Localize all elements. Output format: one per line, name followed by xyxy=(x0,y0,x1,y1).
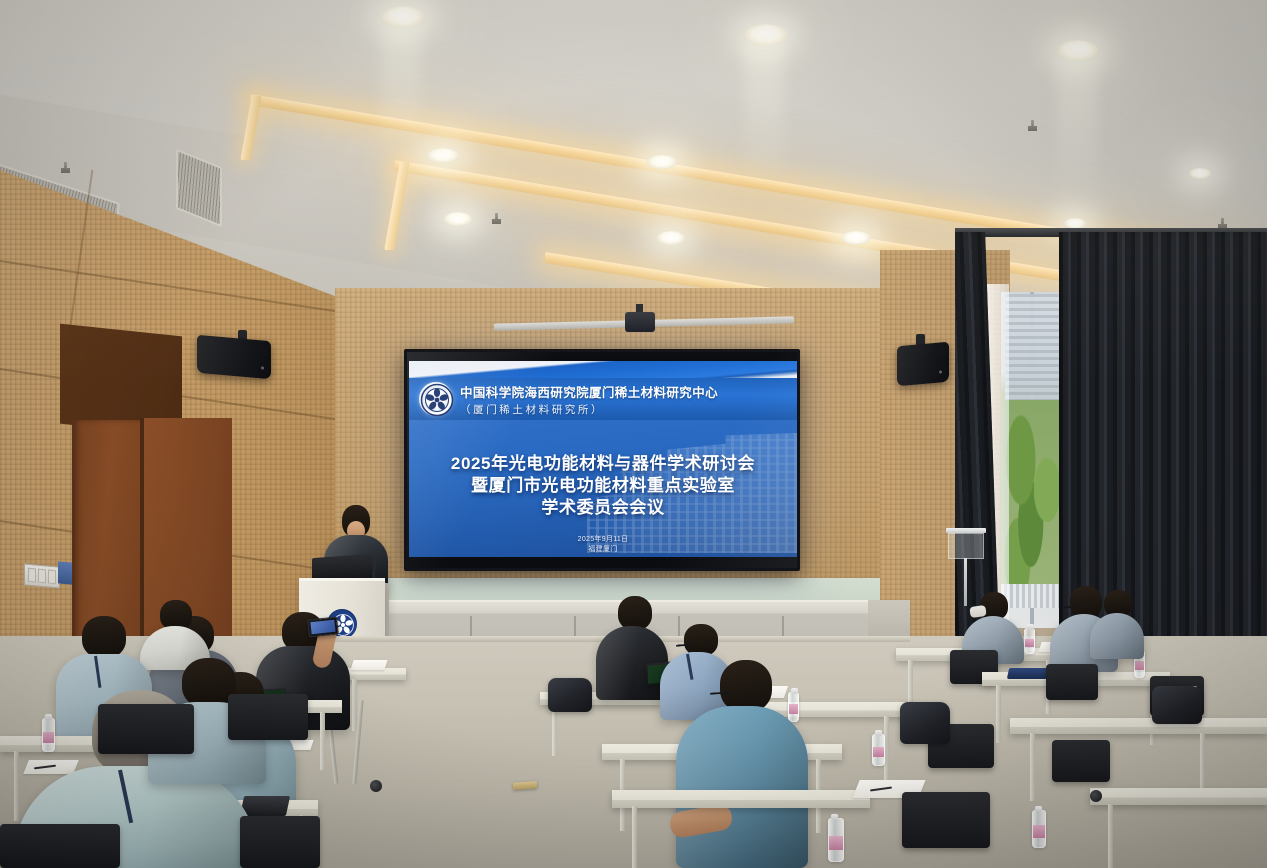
sprinkler-head-5 xyxy=(1028,120,1037,131)
water-bottle xyxy=(828,818,844,862)
desk-leg xyxy=(1108,804,1113,868)
slide-location: 福建厦门 xyxy=(409,545,797,555)
water-bottle xyxy=(1032,810,1046,848)
attendee-head xyxy=(720,660,772,712)
bottle-label xyxy=(1135,661,1144,670)
slide-date: 2025年9月11日 xyxy=(409,535,797,545)
presentation-screen[interactable]: 中国科学院海西研究院厦门稀土材料研究中心 （厦门稀土材料研究所） 2025年光电… xyxy=(404,349,800,571)
backpack-bag xyxy=(548,678,592,712)
slide-title: 2025年光电功能材料与器件学术研讨会 暨厦门市光电功能材料重点实验室 学术委员… xyxy=(409,453,797,519)
downlight-9 xyxy=(1189,168,1211,179)
downlight-1 xyxy=(381,6,425,28)
conference-room-photo: 中国科学院海西研究院厦门稀土材料研究中心 （厦门稀土材料研究所） 2025年光电… xyxy=(0,0,1267,868)
chair[interactable] xyxy=(1052,740,1110,782)
cas-academy-emblem xyxy=(419,382,453,416)
table-row xyxy=(612,790,870,808)
bottle-cap xyxy=(875,730,882,736)
chair-caster xyxy=(370,780,382,792)
exterior-building xyxy=(1005,294,1063,402)
downlight-2 xyxy=(744,24,788,46)
smartphone[interactable] xyxy=(307,616,339,637)
water-bottle xyxy=(872,734,885,766)
desk-leg xyxy=(320,712,325,770)
desk-leg xyxy=(632,806,637,868)
attendee-shading xyxy=(1090,613,1144,659)
phone-screen xyxy=(310,620,335,634)
light-switch-2[interactable] xyxy=(38,569,46,584)
light-switch-1[interactable] xyxy=(28,568,36,583)
slide-organization-subname: （厦门稀土材料研究所） xyxy=(460,402,718,417)
desk-leg xyxy=(1030,733,1035,801)
attendee-torso xyxy=(1090,613,1144,659)
wall-speaker-left xyxy=(197,335,271,379)
bottle-cap xyxy=(1035,806,1042,812)
slide-title-line-1: 2025年光电功能材料与器件学术研讨会 xyxy=(409,453,797,475)
wall-socket-blue[interactable] xyxy=(58,561,72,584)
bottle-label xyxy=(1033,825,1045,837)
ceiling-mounted-camera xyxy=(625,312,655,332)
bottle-label xyxy=(1025,639,1034,647)
bottle-label xyxy=(829,836,843,850)
bottle-cap xyxy=(831,814,838,820)
chair[interactable] xyxy=(0,824,120,868)
desk-leg xyxy=(996,685,1001,743)
table-row xyxy=(1090,788,1267,805)
table-row xyxy=(1010,718,1267,734)
slide-header-band: 中国科学院海西研究院厦门稀土材料研究中心 （厦门稀土材料研究所） xyxy=(409,378,797,420)
downlight-beam-1 xyxy=(381,22,421,172)
exterior-tree xyxy=(1001,400,1067,600)
slide-organization-name: 中国科学院海西研究院厦门稀土材料研究中心 xyxy=(460,382,718,401)
downlight-4 xyxy=(427,148,459,163)
backpack-bag xyxy=(900,702,950,744)
attendee-head xyxy=(82,616,126,658)
slide-title-line-2: 暨厦门市光电功能材料重点实验室 xyxy=(409,475,797,497)
downlight-beam-3 xyxy=(1057,56,1097,206)
attendee-center-front-teal xyxy=(676,660,810,868)
downlight-beam-2 xyxy=(744,40,784,190)
chair[interactable] xyxy=(228,694,308,740)
attendee-right-window-side xyxy=(1090,590,1146,658)
chair[interactable] xyxy=(902,792,990,848)
chair-caster xyxy=(1090,790,1102,802)
wall-speaker-right xyxy=(897,342,949,387)
paper-handout xyxy=(350,660,387,670)
attendee-shading xyxy=(676,706,808,868)
downlight-7 xyxy=(444,212,472,226)
lectern-panel xyxy=(948,533,984,559)
slide-canvas: 中国科学院海西研究院厦门稀土材料研究中心 （厦门稀土材料研究所） 2025年光电… xyxy=(409,361,797,557)
light-switch-3[interactable] xyxy=(48,570,56,585)
wall-light-switch-panel[interactable] xyxy=(24,563,60,588)
desk-leg xyxy=(352,679,357,731)
backpack-bag xyxy=(1152,686,1202,724)
chair[interactable] xyxy=(240,816,320,868)
bottle-label xyxy=(873,747,884,757)
slide-meta: 2025年9月11日 福建厦门 xyxy=(409,535,797,554)
attendee-torso xyxy=(676,706,808,868)
attendee-head xyxy=(618,596,652,630)
chair[interactable] xyxy=(1046,664,1098,700)
bottle-cap xyxy=(1027,624,1034,630)
slide-title-line-3: 学术委员会会议 xyxy=(409,497,797,519)
downlight-6 xyxy=(841,231,871,245)
chair[interactable] xyxy=(98,704,194,754)
slide-header-text: 中国科学院海西研究院厦门稀土材料研究中心 （厦门稀土材料研究所） xyxy=(460,382,718,417)
downlight-5 xyxy=(647,155,677,169)
downlight-8 xyxy=(657,231,685,245)
downlight-3 xyxy=(1057,40,1099,61)
notebook-on-desk xyxy=(1007,668,1049,679)
